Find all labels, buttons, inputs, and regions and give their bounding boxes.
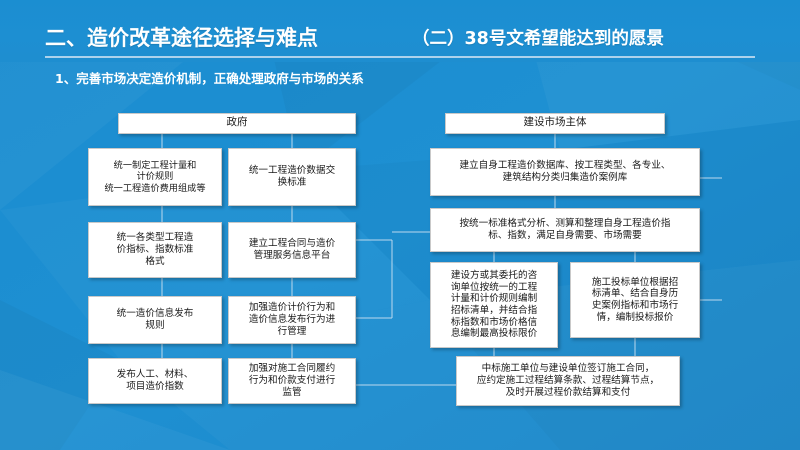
node-gov-a-3[interactable]: 统一造价信息发布 规则 <box>88 296 222 344</box>
node-market-pair-1[interactable]: 建设方或其委托的咨 询单位按统一的工程 计量和计价规则编制 招标清单，并结合指 … <box>430 262 558 348</box>
node-gov-b-1[interactable]: 统一工程造价数据交 换标准 <box>228 148 356 206</box>
node-market-wide-1[interactable]: 建立自身工程造价数据库、按工程类型、各专业、 建筑结构分类归集造价案例库 <box>430 148 700 196</box>
node-government-header[interactable]: 政府 <box>118 113 356 134</box>
node-gov-b-2[interactable]: 建立工程合同与造价 管理服务信息平台 <box>228 222 356 278</box>
node-market-pair-2[interactable]: 施工投标单位根据招 标清单、结合自身历 史案例指标和市场行 情，编制投标报价 <box>570 262 700 338</box>
node-gov-a-2[interactable]: 统一各类型工程造 价指标、指数标准 格式 <box>88 222 222 278</box>
node-market-bottom[interactable]: 中标施工单位与建设单位签订施工合同， 应约定施工过程结算条款、过程结算节点， 及… <box>456 356 680 406</box>
node-gov-a-1[interactable]: 统一制定工程计量和 计价规则 统一工程造价费用组成等 <box>88 148 222 206</box>
node-market-wide-2[interactable]: 按统一标准格式分析、测算和整理自身工程造价指 标、指数，满足自身需要、市场需要 <box>430 208 700 252</box>
node-gov-b-4[interactable]: 加强对施工合同履约 行为和价款支付进行 监管 <box>228 358 356 404</box>
node-market-header[interactable]: 建设市场主体 <box>445 113 665 134</box>
node-gov-b-3[interactable]: 加强造价计价行为和 造价信息发布行为进 行管理 <box>228 296 356 344</box>
node-gov-a-4[interactable]: 发布人工、材料、 项目造价指数 <box>88 358 222 404</box>
